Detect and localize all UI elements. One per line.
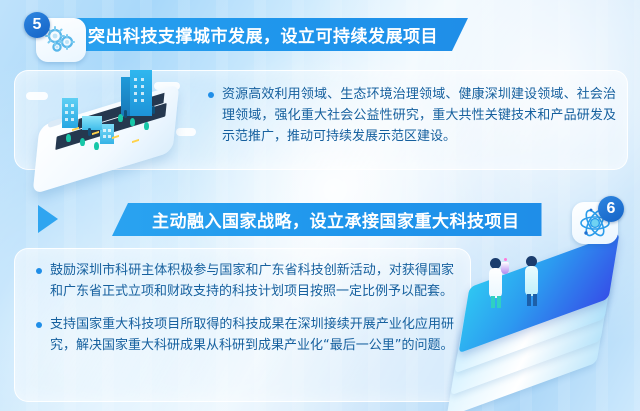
bullet-dot-icon	[36, 268, 42, 274]
infographic-canvas: 突出科技支撑城市发展，设立可持续发展项目 5	[0, 0, 640, 411]
list-item: 支持国家重大科技项目所取得的科技成果在深圳接续开展产业化应用研究，解决国家重大科…	[36, 314, 454, 356]
section-6-title-bar: 主动融入国家战略，设立承接国家重大科技项目	[112, 203, 542, 236]
section-6-bullet-1: 鼓励深圳市科研主体积极参与国家和广东省科技创新活动，对获得国家和广东省正式立项和…	[50, 260, 454, 302]
bullet-dot-icon	[208, 92, 214, 98]
list-item: 资源高效利用领域、生态环境治理领域、健康深圳建设领域、社会治理领域，强化重大社会…	[208, 84, 616, 147]
scientists-on-book-stack-illustration	[444, 250, 630, 408]
bullet-dot-icon	[36, 322, 42, 328]
section-6-bullet-list: 鼓励深圳市科研主体积极参与国家和广东省科技创新活动，对获得国家和广东省正式立项和…	[36, 260, 454, 368]
section-5-bullet-1: 资源高效利用领域、生态环境治理领域、健康深圳建设领域、社会治理领域，强化重大社会…	[222, 84, 616, 147]
section-5-title: 突出科技支撑城市发展，设立可持续发展项目	[88, 22, 438, 47]
section-5-bullet-list: 资源高效利用领域、生态环境治理领域、健康深圳建设领域、社会治理领域，强化重大社会…	[208, 84, 616, 159]
section-5-title-bar: 突出科技支撑城市发展，设立可持续发展项目	[48, 18, 468, 51]
section-6-number-badge: 6	[598, 196, 624, 222]
section-6-bullet-2: 支持国家重大科技项目所取得的科技成果在深圳接续开展产业化应用研究，解决国家重大科…	[50, 314, 454, 356]
list-item: 鼓励深圳市科研主体积极参与国家和广东省科技创新活动，对获得国家和广东省正式立项和…	[36, 260, 454, 302]
section-6-chevron-icon	[38, 205, 58, 233]
section-5-number-badge: 5	[24, 12, 50, 38]
smart-city-on-smartphone-illustration	[26, 76, 202, 168]
section-6-badge-group: 6	[568, 196, 624, 244]
section-6-title: 主动融入国家战略，设立承接国家重大科技项目	[152, 207, 520, 232]
